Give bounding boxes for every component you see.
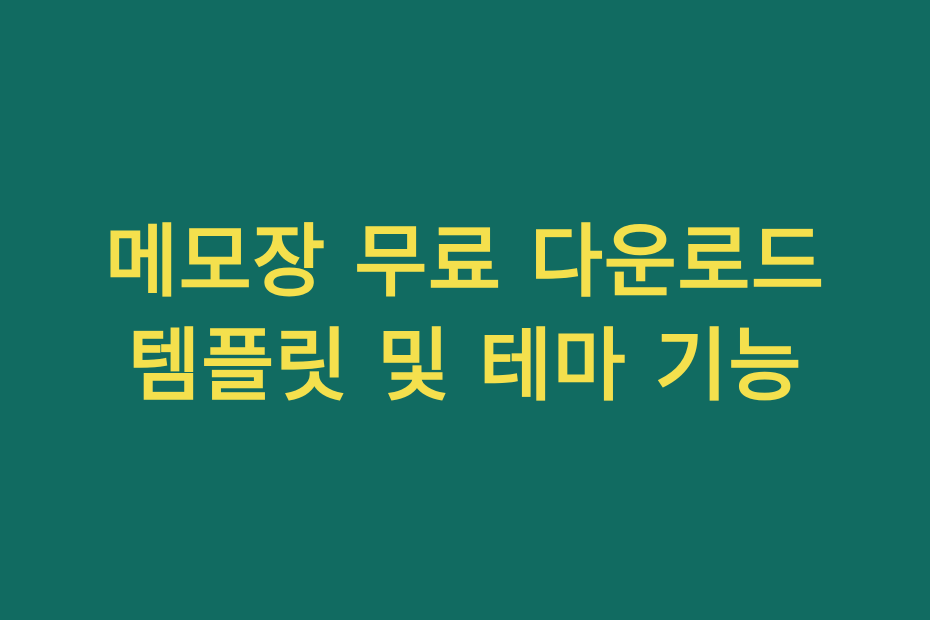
banner-canvas: 메모장 무료 다운로드 템플릿 및 테마 기능 — [0, 0, 930, 620]
headline-line-1: 메모장 무료 다운로드 — [0, 210, 930, 314]
headline-line-2: 템플릿 및 테마 기능 — [0, 314, 930, 418]
headline-block: 메모장 무료 다운로드 템플릿 및 테마 기능 — [0, 210, 930, 419]
